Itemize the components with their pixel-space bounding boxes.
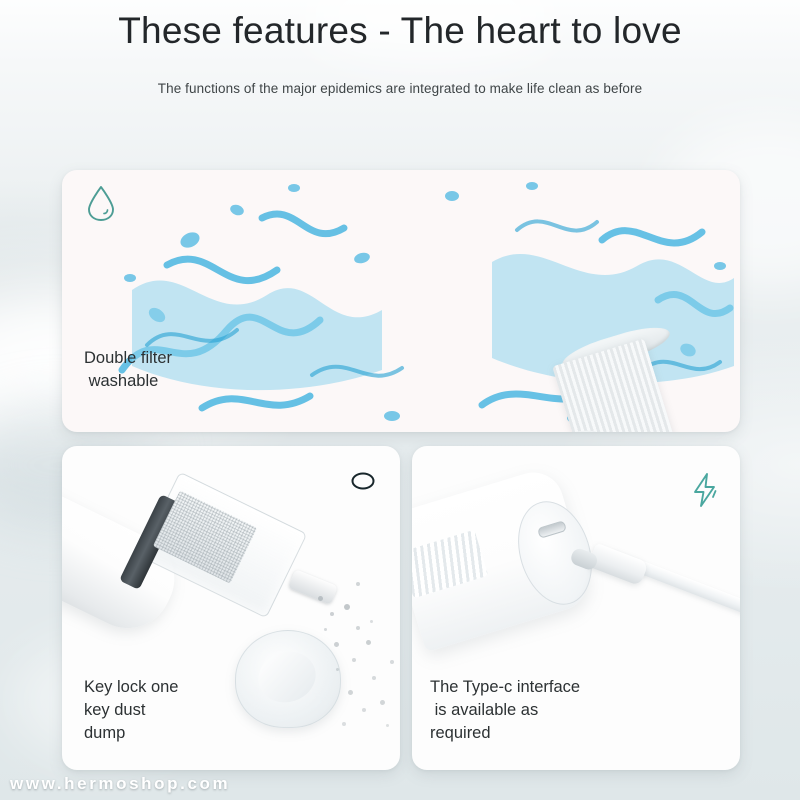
feature-caption-dust-dump: Key lock one key dust dump xyxy=(84,676,178,745)
oval-ring-icon xyxy=(350,470,376,497)
page-subtitle: The functions of the major epidemics are… xyxy=(0,81,800,96)
vacuum-release-latch xyxy=(288,569,338,605)
water-drop-icon xyxy=(86,184,116,227)
feature-caption-type-c: The Type-c interface is available as req… xyxy=(430,676,580,745)
feature-caption-double-filter: Double filter washable xyxy=(84,347,172,393)
lightning-bolt-icon xyxy=(690,472,720,513)
product-feature-page: These features - The heart to love The f… xyxy=(0,0,800,800)
type-c-plug-housing xyxy=(588,543,649,586)
filter-cap-top xyxy=(559,320,674,378)
site-watermark: www.hermoshop.com xyxy=(10,774,230,794)
page-title: These features - The heart to love xyxy=(0,10,800,52)
filter-cartridge-upper xyxy=(552,339,678,432)
filter-cap-top xyxy=(494,422,605,432)
